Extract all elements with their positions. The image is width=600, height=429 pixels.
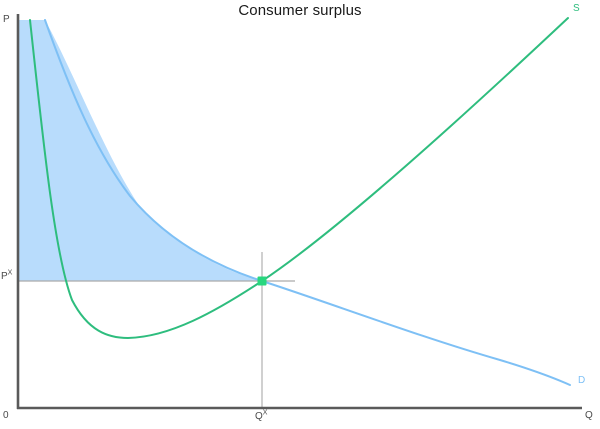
equilibrium-price-base: P xyxy=(1,271,8,282)
consumer-surplus-region xyxy=(19,20,262,281)
equilibrium-price-label: PX xyxy=(1,271,12,282)
equilibrium-price-superscript: X xyxy=(8,270,13,277)
equilibrium-quantity-superscript: X xyxy=(263,410,268,417)
x-axis-label: Q xyxy=(585,410,593,421)
equilibrium-quantity-label: QX xyxy=(255,411,267,422)
equilibrium-quantity-base: Q xyxy=(255,411,263,422)
demand-curve-label: D xyxy=(578,375,585,386)
equilibrium-point-marker xyxy=(258,277,267,286)
chart-plot-area xyxy=(0,0,600,429)
y-axis-label: P xyxy=(3,14,10,25)
supply-curve-label: S xyxy=(573,3,580,14)
origin-label: 0 xyxy=(3,410,9,421)
consumer-surplus-chart: Consumer surplus P Q 0 PX QX S D xyxy=(0,0,600,429)
